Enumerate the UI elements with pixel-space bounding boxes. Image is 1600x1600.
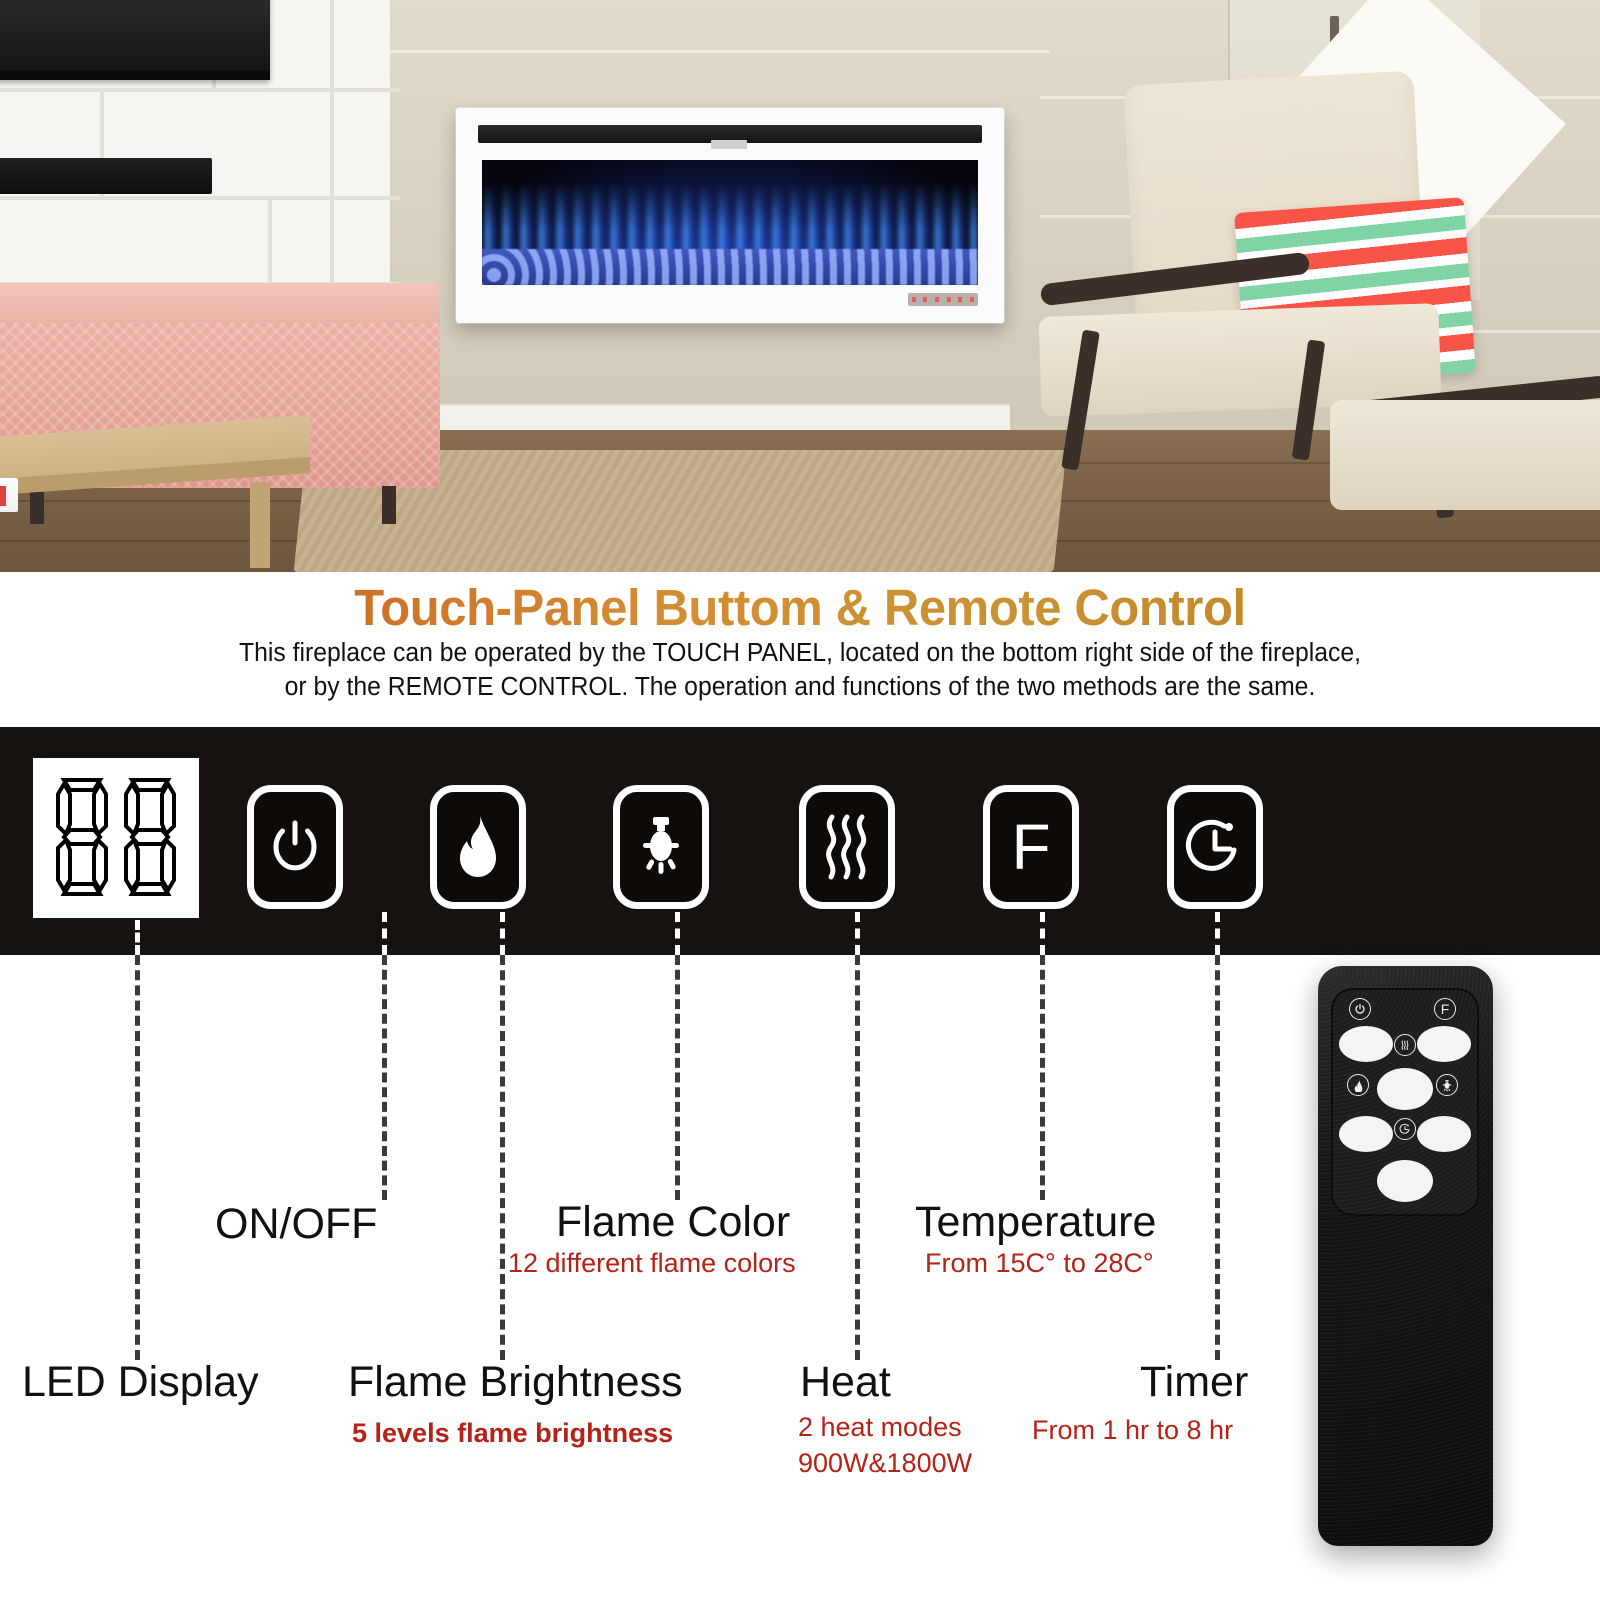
callout-note-timer: From 1 hr to 8 hr [1032, 1415, 1233, 1446]
fireplace-touch-panel[interactable] [908, 293, 978, 306]
remote-button-bottom[interactable] [1377, 1160, 1433, 1202]
tile-seam [0, 88, 400, 92]
page-title: Touch-Panel Buttom & Remote Control [32, 578, 1568, 637]
lightbulb-icon-button[interactable] [613, 785, 709, 909]
electric-fireplace [456, 108, 1004, 323]
power-icon [1349, 998, 1371, 1020]
callout-note-heat-2: 900W&1800W [798, 1448, 972, 1479]
callout-note-flame-brightness: 5 levels flame brightness [352, 1418, 673, 1449]
remote-control[interactable]: F [1318, 966, 1493, 1546]
remote-button-down-left[interactable] [1339, 1116, 1393, 1152]
headline-band: Touch-Panel Buttom & Remote Control This… [0, 572, 1600, 727]
cup [0, 478, 18, 512]
tile-seam [0, 196, 400, 200]
heat-waves-icon [1394, 1034, 1416, 1056]
flame-icon-button[interactable] [430, 785, 526, 909]
seven-segment-digit [50, 774, 114, 902]
leader-line-heat [855, 912, 860, 955]
leader-line-temperature [1040, 912, 1045, 955]
pink-ottoman-top [0, 283, 440, 323]
flame-icon [1347, 1074, 1369, 1096]
flame-icon [452, 814, 504, 880]
leader-line-temperature [1040, 955, 1045, 1200]
callout-label-temperature: Temperature [915, 1198, 1156, 1247]
subtitle-line-1: This fireplace can be operated by the TO… [24, 637, 1576, 671]
remote-button-up-right[interactable] [1417, 1026, 1471, 1062]
fahrenheit-icon-button[interactable]: F [983, 785, 1079, 909]
heat-waves-icon-button[interactable] [799, 785, 895, 909]
callout-note-temperature: From 15C° to 28C° [925, 1248, 1154, 1279]
subtitle-line-2: or by the REMOTE CONTROL. The operation … [24, 671, 1576, 705]
timer-clock-icon [1184, 816, 1246, 878]
callout-label-timer: Timer [1140, 1358, 1248, 1407]
callout-label-led-display: LED Display [22, 1358, 259, 1407]
leader-line-timer [1215, 912, 1220, 955]
heat-waves-icon [818, 813, 876, 881]
timer-clock-icon-button[interactable] [1167, 785, 1263, 909]
timer-clock-icon [1394, 1118, 1416, 1140]
tile-seam [330, 0, 334, 300]
seven-segment-digit [118, 774, 182, 902]
ir-receiver [711, 140, 747, 149]
leader-line-timer [1215, 955, 1220, 1360]
wall-seam [390, 50, 1050, 53]
callout-label-flame-color: Flame Color [556, 1198, 790, 1247]
leader-line-led [135, 920, 140, 955]
leader-line-flame-color [675, 955, 680, 1200]
fahrenheit-icon: F [1011, 815, 1050, 879]
hero-room-photo [0, 0, 1600, 572]
leader-line-heat [855, 955, 860, 1360]
power-icon [268, 817, 322, 877]
lightbulb-icon [631, 814, 691, 880]
callout-label-heat: Heat [800, 1358, 891, 1407]
tile-seam [268, 196, 272, 282]
crystal-embers [482, 249, 978, 285]
callout-label-flame-brightness: Flame Brightness [348, 1358, 683, 1407]
leader-line-onoff [382, 912, 387, 955]
leader-line-onoff [382, 955, 387, 1200]
leader-line-flame-color [675, 912, 680, 955]
callout-label-on-off: ON/OFF [215, 1200, 377, 1249]
led-display-icon [33, 758, 199, 918]
fireplace-flame-window [482, 160, 978, 285]
remote-button-up-left[interactable] [1339, 1026, 1393, 1062]
second-chair-seat [1330, 400, 1600, 510]
power-icon-button[interactable] [247, 785, 343, 909]
leader-line-flame-brightness [500, 912, 505, 955]
remote-button-down-right[interactable] [1417, 1116, 1471, 1152]
wall-mounted-tv [0, 0, 270, 80]
lightbulb-icon [1436, 1074, 1458, 1096]
remote-button-center[interactable] [1377, 1068, 1433, 1110]
fahrenheit-icon: F [1434, 998, 1456, 1020]
callout-note-flame-color: 12 different flame colors [508, 1248, 796, 1279]
soundbar [0, 158, 212, 194]
leader-line-flame-brightness [500, 955, 505, 1360]
remote-keypad: F [1331, 988, 1479, 1216]
callout-note-heat: 2 heat modes [798, 1412, 962, 1443]
leader-line-led [135, 955, 140, 1360]
